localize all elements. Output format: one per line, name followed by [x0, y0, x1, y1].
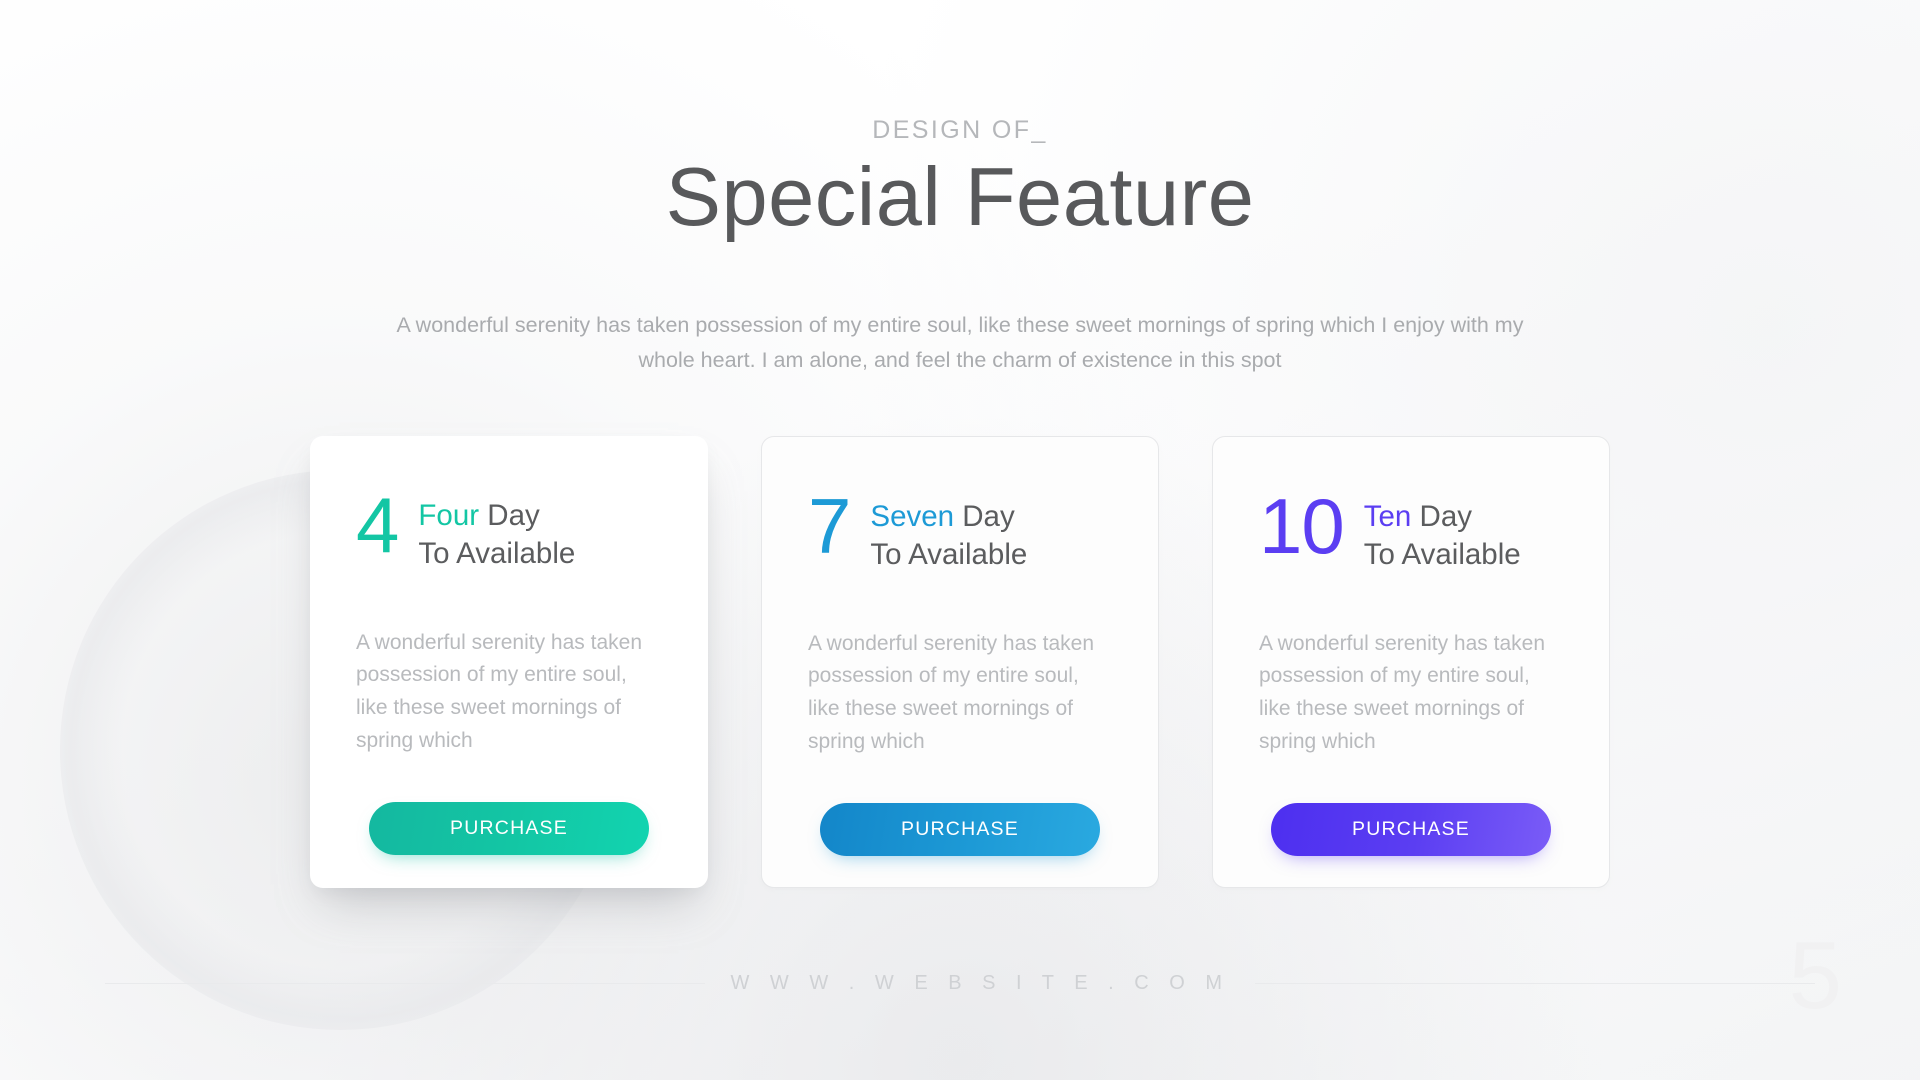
card-header: 7 Seven Day To Available: [808, 493, 1112, 574]
page-title: Special Feature: [0, 152, 1920, 242]
card-accent-word: Seven: [870, 500, 954, 533]
card-accent-word: Ten: [1364, 500, 1412, 533]
card-description: A wonderful serenity has taken possessio…: [356, 627, 656, 758]
card-accent-word: Four: [418, 499, 479, 532]
pricing-card-list: 4 Four Day To Available A wonderful sere…: [310, 436, 1610, 888]
slide-canvas: DESIGN OF_ Special Feature A wonderful s…: [0, 0, 1920, 1080]
pricing-card[interactable]: 10 Ten Day To Available A wonderful sere…: [1212, 436, 1610, 888]
card-action-area: PURCHASE: [356, 802, 662, 855]
card-action-area: PURCHASE: [808, 803, 1112, 856]
slide-subtitle: A wonderful serenity has taken possessio…: [395, 308, 1525, 378]
card-header: 10 Ten Day To Available: [1259, 493, 1563, 574]
card-number: 10: [1259, 495, 1344, 559]
card-number: 7: [808, 495, 850, 559]
card-description: A wonderful serenity has taken possessio…: [1259, 628, 1559, 759]
pricing-card[interactable]: 4 Four Day To Available A wonderful sere…: [310, 436, 708, 888]
card-heading: Ten Day To Available: [1364, 493, 1521, 574]
card-heading: Seven Day To Available: [870, 493, 1027, 574]
card-heading: Four Day To Available: [418, 492, 575, 573]
footer-divider-left: [105, 983, 705, 984]
card-header: 4 Four Day To Available: [356, 492, 662, 573]
slide-footer: W W W . W E B S I T E . C O M: [0, 972, 1920, 995]
card-action-area: PURCHASE: [1259, 803, 1563, 856]
card-heading-line2: To Available: [870, 538, 1027, 571]
purchase-button[interactable]: PURCHASE: [1271, 803, 1551, 856]
card-heading-line2: To Available: [1364, 538, 1521, 571]
slide-page-number: 5: [1789, 928, 1842, 1024]
card-heading-rest: Day: [954, 500, 1015, 533]
card-description: A wonderful serenity has taken possessio…: [808, 628, 1108, 759]
purchase-button[interactable]: PURCHASE: [369, 802, 649, 855]
card-number: 4: [356, 494, 398, 558]
purchase-button[interactable]: PURCHASE: [820, 803, 1100, 856]
card-heading-rest: Day: [479, 499, 540, 532]
footer-divider-right: [1255, 983, 1815, 984]
card-heading-rest: Day: [1411, 500, 1472, 533]
slide-eyebrow: DESIGN OF_: [0, 116, 1920, 145]
footer-website-url: W W W . W E B S I T E . C O M: [731, 972, 1230, 995]
card-heading-line2: To Available: [418, 537, 575, 570]
pricing-card[interactable]: 7 Seven Day To Available A wonderful ser…: [761, 436, 1159, 888]
